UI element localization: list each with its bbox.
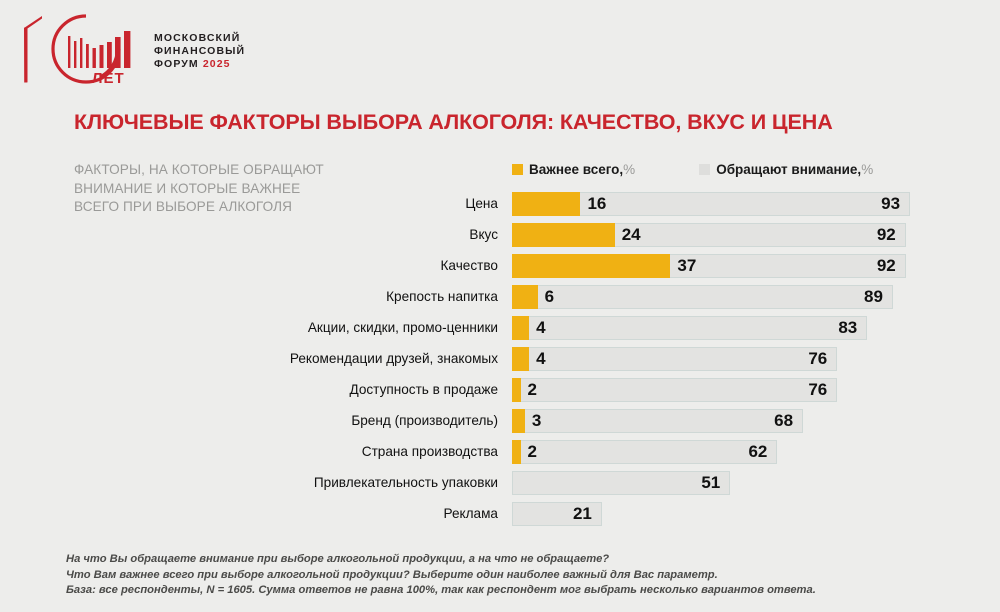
bar-most-important [512, 223, 615, 247]
bar-pay-attention [512, 285, 893, 309]
chart-row-label: Качество [441, 254, 498, 278]
chart-row-label: Цена [465, 192, 498, 216]
bar-pay-attention [512, 347, 837, 371]
chart-row: Акции, скидки, промо-ценники483 [0, 316, 1000, 347]
bar-chart: Цена1693Вкус2492Качество3792Крепость нап… [0, 192, 1000, 533]
subtitle-line-1: ФАКТОРЫ, НА КОТОРЫЕ ОБРАЩАЮТ [74, 161, 454, 180]
chart-row-label: Акции, скидки, промо-ценники [308, 316, 498, 340]
chart-row-label: Крепость напитка [386, 285, 498, 309]
footnote-line-2: Что Вам важнее всего при выборе алкоголь… [66, 568, 966, 584]
legend-swatch-icon-pay-attention [699, 164, 710, 175]
svg-text:ЛЕТ: ЛЕТ [92, 70, 125, 87]
chart-row: Страна производства262 [0, 440, 1000, 471]
bar-value-pay-attention: 76 [808, 378, 827, 402]
footnote-line-1: На что Вы обращаете внимание при выборе … [66, 552, 966, 568]
bar-value-pay-attention: 92 [877, 254, 896, 278]
bar-pay-attention [512, 316, 867, 340]
bar-value-most-important: 24 [622, 223, 641, 247]
bar-value-pay-attention: 51 [701, 471, 720, 495]
bar-value-pay-attention: 83 [838, 316, 857, 340]
event-logo: ЛЕТ МОСКОВСКИЙ ФИНАНСОВЫЙ ФОРУМ 2025 [14, 10, 264, 88]
legend-text-most-important: Важнее всего, [529, 162, 623, 177]
chart-row: Реклама21 [0, 502, 1000, 533]
chart-row: Вкус2492 [0, 223, 1000, 254]
legend-item-pay-attention: Обращают внимание,% [699, 162, 873, 177]
legend-pct-most-important: % [623, 162, 635, 177]
bar-value-pay-attention: 21 [573, 502, 592, 526]
logo-forum-word: ФОРУМ [154, 58, 199, 70]
bar-value-pay-attention: 62 [748, 440, 767, 464]
bar-most-important [512, 254, 670, 278]
bar-value-most-important: 2 [528, 440, 537, 464]
chart-row-label: Доступность в продаже [349, 378, 498, 402]
logo-year: 2025 [203, 58, 231, 70]
bar-value-most-important: 16 [587, 192, 606, 216]
bar-value-pay-attention: 92 [877, 223, 896, 247]
chart-row: Бренд (производитель)368 [0, 409, 1000, 440]
bar-value-most-important: 37 [677, 254, 696, 278]
chart-row: Крепость напитка689 [0, 285, 1000, 316]
logo-line-3: ФОРУМ 2025 [154, 58, 245, 71]
logo-wordmark: МОСКОВСКИЙ ФИНАНСОВЫЙ ФОРУМ 2025 [154, 32, 245, 71]
logo-mark-icon: ЛЕТ [14, 10, 150, 88]
footnote-line-3: База: все респонденты, N = 1605. Сумма о… [66, 583, 966, 599]
chart-row-label: Рекомендации друзей, знакомых [290, 347, 498, 371]
chart-row-label: Страна производства [362, 440, 498, 464]
legend-text-pay-attention: Обращают внимание, [716, 162, 861, 177]
page-title: КЛЮЧЕВЫЕ ФАКТОРЫ ВЫБОРА АЛКОГОЛЯ: КАЧЕСТ… [74, 110, 833, 135]
legend-item-most-important: Важнее всего,% [512, 162, 635, 177]
logo-line-2: ФИНАНСОВЫЙ [154, 45, 245, 58]
bar-value-pay-attention: 93 [881, 192, 900, 216]
chart-row: Качество3792 [0, 254, 1000, 285]
bar-value-most-important: 6 [545, 285, 554, 309]
bar-value-most-important: 3 [532, 409, 541, 433]
bar-most-important [512, 192, 580, 216]
legend-swatch-icon-most-important [512, 164, 523, 175]
bar-value-most-important: 4 [536, 316, 545, 340]
chart-row: Цена1693 [0, 192, 1000, 223]
bar-most-important [512, 347, 529, 371]
chart-row: Рекомендации друзей, знакомых476 [0, 347, 1000, 378]
chart-footnotes: На что Вы обращаете внимание при выборе … [66, 552, 966, 599]
legend-label-pay-attention: Обращают внимание,% [716, 162, 873, 177]
chart-row-label: Привлекательность упаковки [314, 471, 498, 495]
chart-row: Привлекательность упаковки51 [0, 471, 1000, 502]
bar-value-most-important: 2 [528, 378, 537, 402]
bar-value-most-important: 4 [536, 347, 545, 371]
bar-pay-attention [512, 471, 730, 495]
bar-most-important [512, 316, 529, 340]
bar-pay-attention [512, 409, 803, 433]
bar-value-pay-attention: 76 [808, 347, 827, 371]
bar-most-important [512, 440, 521, 464]
bar-most-important [512, 285, 538, 309]
bar-most-important [512, 409, 525, 433]
chart-row-label: Бренд (производитель) [351, 409, 498, 433]
chart-row-label: Реклама [443, 502, 498, 526]
bar-most-important [512, 378, 521, 402]
bar-pay-attention [512, 440, 777, 464]
chart-row-label: Вкус [469, 223, 498, 247]
bar-pay-attention [512, 378, 837, 402]
bar-value-pay-attention: 68 [774, 409, 793, 433]
logo-line-1: МОСКОВСКИЙ [154, 32, 245, 45]
bar-value-pay-attention: 89 [864, 285, 883, 309]
legend-label-most-important: Важнее всего,% [529, 162, 635, 177]
chart-legend: Важнее всего,% Обращают внимание,% [512, 162, 873, 177]
chart-row: Доступность в продаже276 [0, 378, 1000, 409]
legend-pct-pay-attention: % [861, 162, 873, 177]
